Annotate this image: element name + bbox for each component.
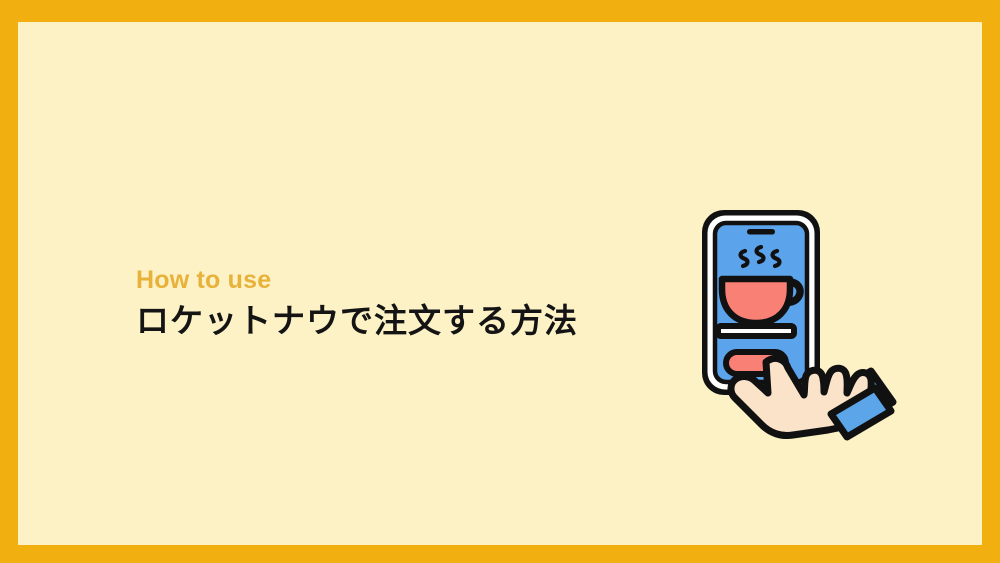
coffee-cup-icon [722, 279, 790, 323]
saucer [718, 326, 794, 336]
text-block: How to use ロケットナウで注文する方法 [136, 266, 656, 340]
speaker-bar [747, 229, 775, 235]
banner-canvas: How to use ロケットナウで注文する方法 [0, 0, 1000, 563]
illustration-svg [673, 182, 903, 447]
content-panel: How to use ロケットナウで注文する方法 [18, 22, 982, 545]
page-title: ロケットナウで注文する方法 [136, 303, 656, 340]
eyebrow-label: How to use [136, 266, 656, 295]
phone-order-illustration [673, 182, 903, 447]
